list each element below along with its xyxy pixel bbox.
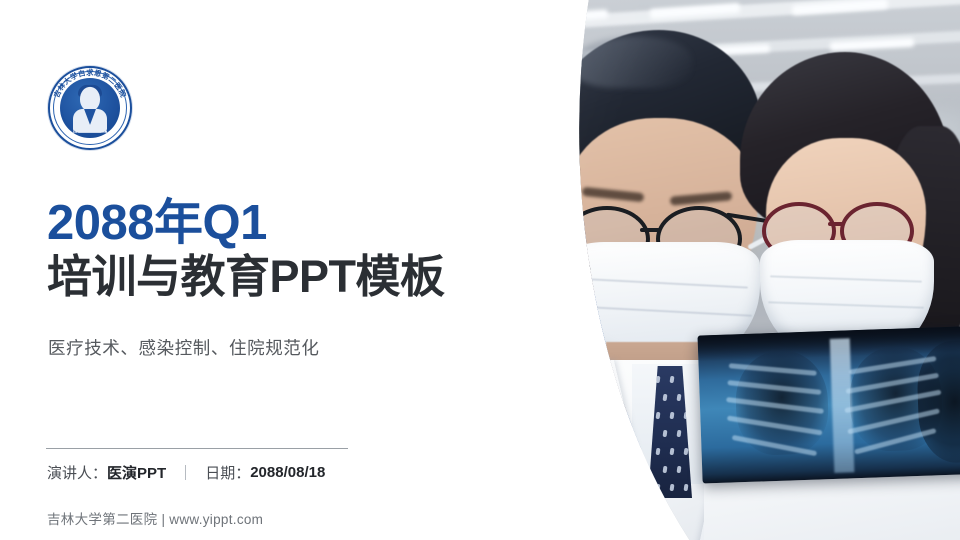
logo-ring-text-en-path: THE SECOND NORMAN BETHUNE HOSPITAL OF JI… [48,66,121,139]
date-value: 2088/08/18 [250,464,325,481]
meta-separator [185,465,186,480]
left-content-panel: 吉林大学白求恩第二医院 THE SECOND NORMAN BETHUNE HO… [0,0,430,540]
date-label: 日期： [205,462,250,483]
presentation-slide: 吉林大学白求恩第二医院 THE SECOND NORMAN BETHUNE HO… [0,0,960,540]
necktie-pattern-dot [677,430,682,437]
necktie-pattern-dot [670,484,675,491]
necktie-pattern-dot [670,412,675,419]
necktie-pattern-dot [663,466,668,473]
necktie-pattern-dot [677,466,682,473]
eyeglasses-bridge [828,222,844,226]
subtitle: 医疗技术、感染控制、住院规范化 [48,335,320,360]
doctor-hair-highlight [572,36,692,88]
speaker-value: 医演PPT [107,462,166,483]
footer-credit: 吉林大学第二医院 | www.yippt.com [47,508,263,528]
doctor-hair [422,54,554,166]
divider [46,448,348,449]
necktie-pattern-dot [656,412,661,419]
necktie-pattern-dot [663,394,668,401]
necktie-pattern-dot [670,448,675,455]
presenter-meta: 演讲人：医演PPT 日期：2088/08/18 [47,462,325,483]
necktie-pattern-dot [684,484,689,491]
eyeglasses-bridge [640,228,660,232]
svg-text:THE SECOND NORMAN BETHUNE HOSP: THE SECOND NORMAN BETHUNE HOSPITAL OF JI… [48,66,121,139]
necktie-pattern-dot [656,448,661,455]
necktie-pattern-dot [663,430,668,437]
logo-ring-text-en: THE SECOND NORMAN BETHUNE HOSPITAL OF JI… [48,66,132,150]
chest-xray-film [698,324,960,483]
necktie-pattern-dot [684,448,689,455]
necktie-pattern-dot [670,376,675,383]
necktie-pattern-dot [677,394,682,401]
speaker-label: 演讲人： [47,462,107,483]
title-line-main: 培训与教育PPT模板 [47,252,517,302]
necktie-pattern-dot [656,484,661,491]
hospital-logo: 吉林大学白求恩第二医院 THE SECOND NORMAN BETHUNE HO… [48,66,132,150]
title-line-year: 2088年Q1 [47,198,517,250]
page-title: 2088年Q1 培训与教育PPT模板 [47,198,517,302]
